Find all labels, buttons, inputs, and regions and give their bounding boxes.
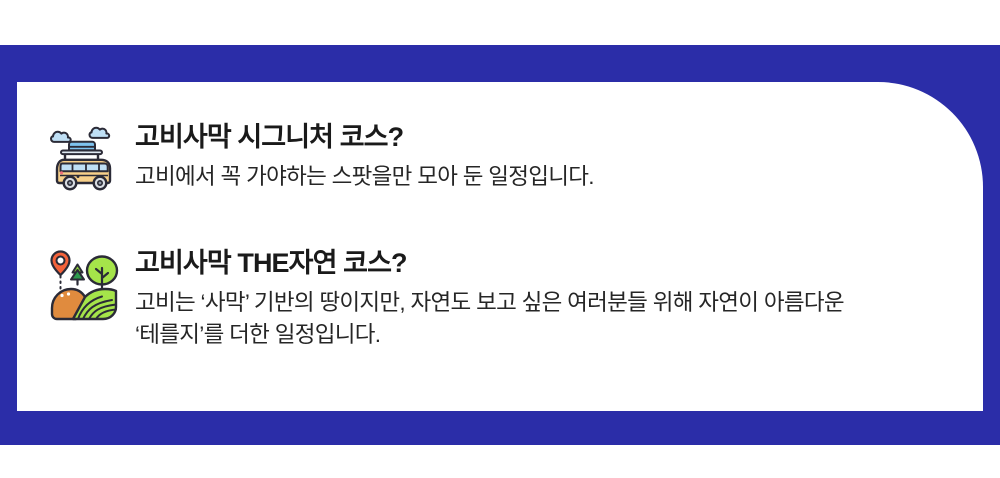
list-item-description-line2: ‘테를지’를 더한 일정입니다. [135, 319, 844, 351]
list-item-description-line1: 고비에서 꼭 가야하는 스팟을만 모아 둔 일정입니다. [135, 164, 594, 189]
list-item-title: 고비사막 THE자연 코스? [135, 248, 844, 280]
list-item-title: 고비사막 시그니처 코스? [135, 122, 594, 154]
list-item-description: 고비에서 꼭 가야하는 스팟을만 모아 둔 일정입니다. [135, 161, 594, 193]
nature-hill-tree-pin-icon [45, 248, 121, 324]
list-item: 고비사막 시그니처 코스? 고비에서 꼭 가야하는 스팟을만 모아 둔 일정입니… [45, 120, 983, 198]
list-item-description-line1: 고비는 ‘사막’ 기반의 땅이지만, 자연도 보고 싶은 여러분들 위해 자연이… [135, 290, 844, 315]
list-item-description: 고비는 ‘사막’ 기반의 땅이지만, 자연도 보고 싶은 여러분들 위해 자연이… [135, 287, 844, 351]
content-card-inner: 고비사막 시그니처 코스? 고비에서 꼭 가야하는 스팟을만 모아 둔 일정입니… [17, 82, 983, 411]
promo-banner: 고비사막 시그니처 코스? 고비에서 꼭 가야하는 스팟을만 모아 둔 일정입니… [0, 0, 1000, 478]
content-card: 고비사막 시그니처 코스? 고비에서 꼭 가야하는 스팟을만 모아 둔 일정입니… [17, 82, 983, 411]
list-item: 고비사막 THE자연 코스? 고비는 ‘사막’ 기반의 땅이지만, 자연도 보고… [45, 246, 983, 351]
list-item-text: 고비사막 시그니처 코스? 고비에서 꼭 가야하는 스팟을만 모아 둔 일정입니… [135, 120, 594, 193]
camper-van-icon [45, 122, 121, 198]
list-item-text: 고비사막 THE자연 코스? 고비는 ‘사막’ 기반의 땅이지만, 자연도 보고… [135, 246, 844, 351]
